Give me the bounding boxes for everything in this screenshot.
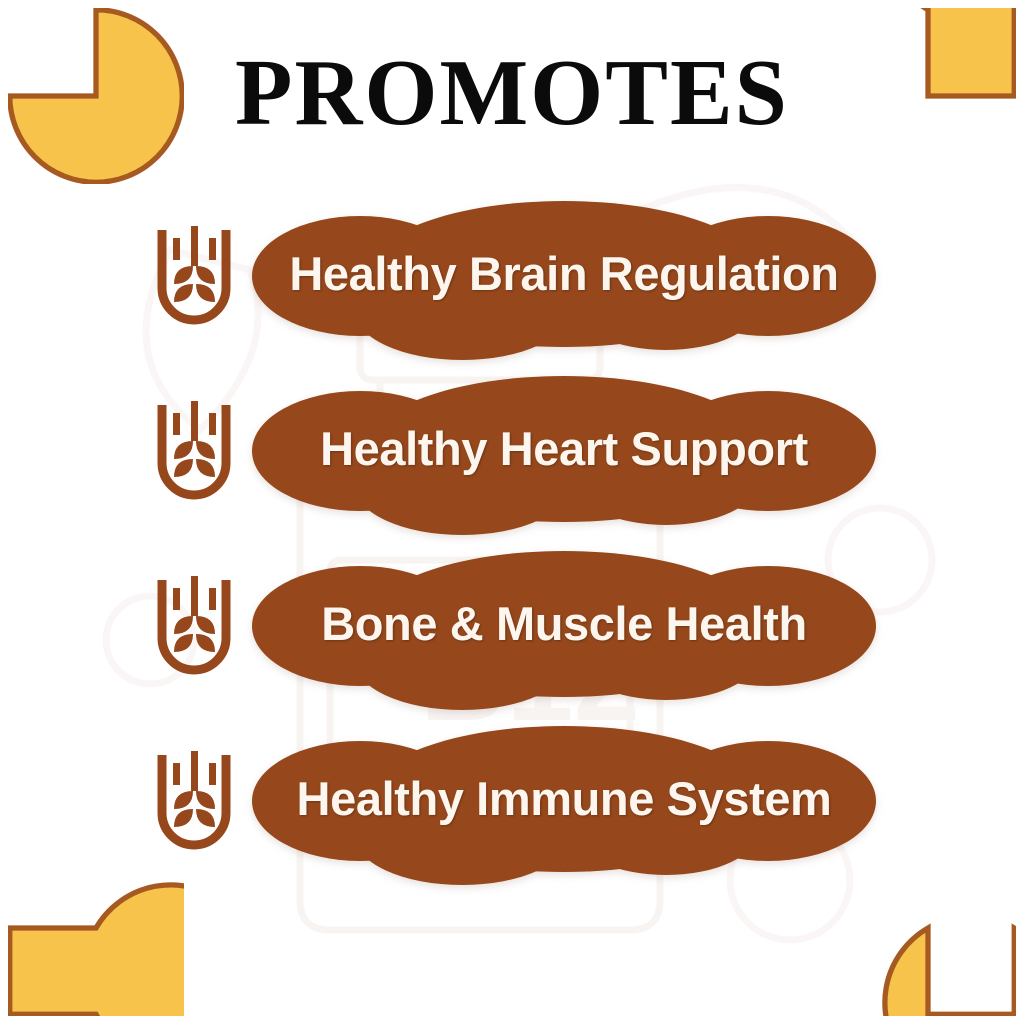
- wheat-grain-icon: [152, 747, 236, 851]
- wheat-grain-icon: [152, 572, 236, 676]
- benefit-label: Healthy Heart Support: [252, 361, 876, 536]
- promotes-infographic: B12 PROMOTES: [0, 0, 1024, 1024]
- benefits-list: Healthy Brain Regulation: [0, 186, 1024, 886]
- benefit-label: Healthy Brain Regulation: [252, 186, 876, 361]
- benefit-row[interactable]: Healthy Immune System: [0, 711, 1024, 886]
- page-title: PROMOTES: [0, 44, 1024, 143]
- benefit-cloud[interactable]: Bone & Muscle Health: [252, 536, 876, 711]
- wheat-grain-icon: [152, 222, 236, 326]
- benefit-label: Healthy Immune System: [252, 711, 876, 886]
- benefit-label: Bone & Muscle Health: [252, 536, 876, 711]
- benefit-cloud[interactable]: Healthy Immune System: [252, 711, 876, 886]
- benefit-row[interactable]: Bone & Muscle Health: [0, 536, 1024, 711]
- benefit-row[interactable]: Healthy Heart Support: [0, 361, 1024, 536]
- benefit-row[interactable]: Healthy Brain Regulation: [0, 186, 1024, 361]
- wheat-grain-icon: [152, 397, 236, 501]
- benefit-cloud[interactable]: Healthy Heart Support: [252, 361, 876, 536]
- benefit-cloud[interactable]: Healthy Brain Regulation: [252, 186, 876, 361]
